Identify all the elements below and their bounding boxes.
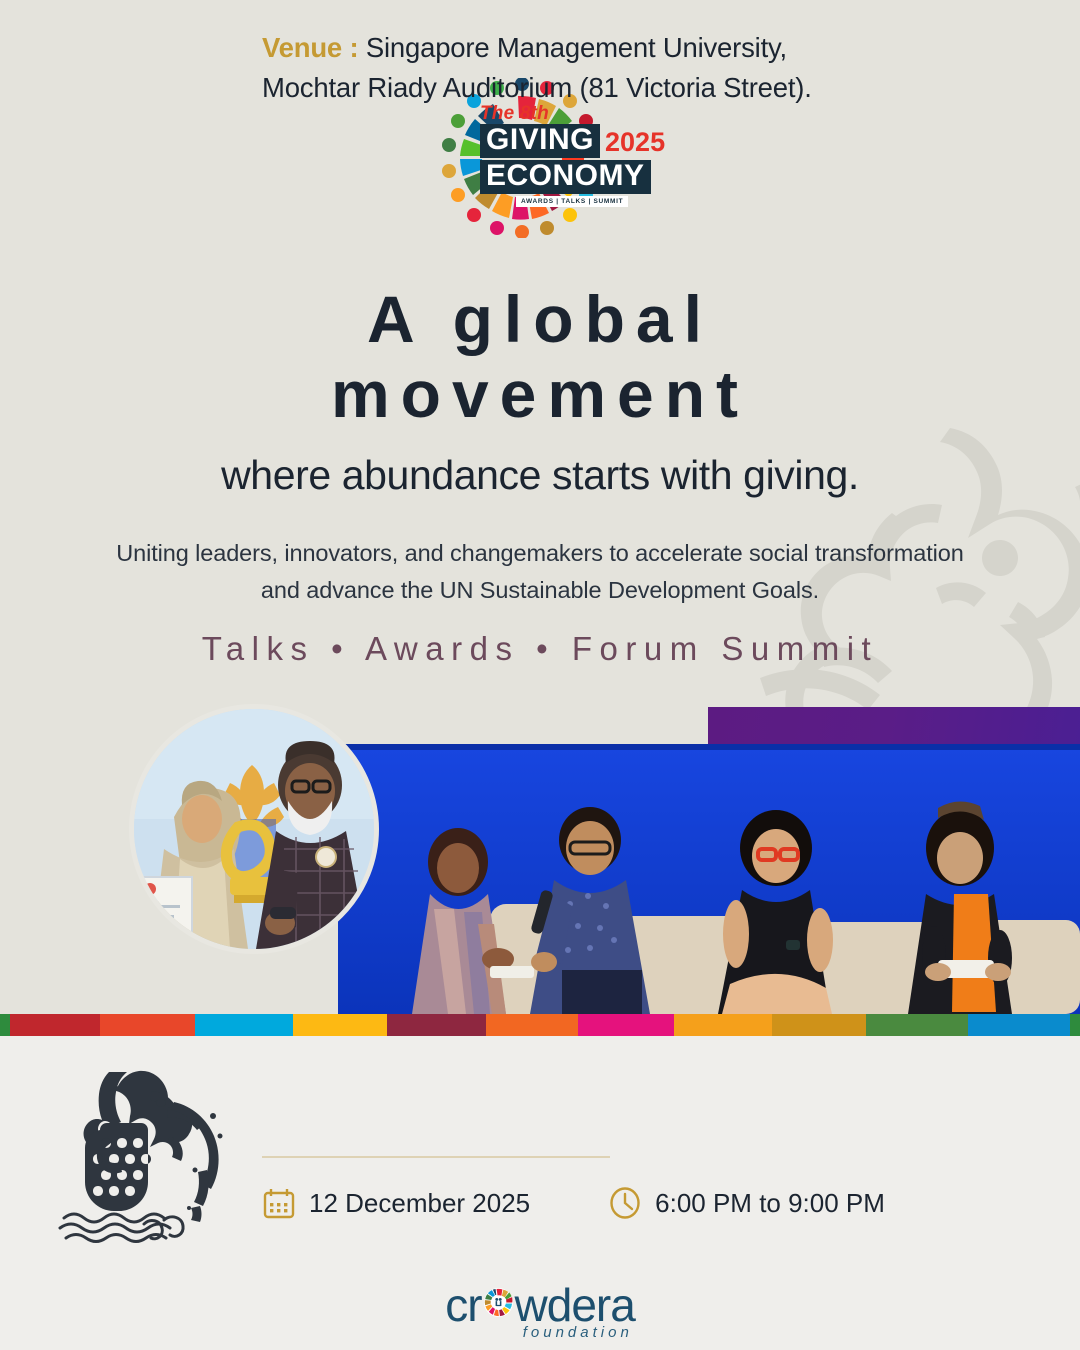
pillars-line: Talks • Awards • Forum Summit (0, 630, 1080, 668)
stripe-segment (100, 1014, 194, 1036)
stripe-segment (0, 1014, 10, 1036)
sdg-wheel-small-icon (483, 1287, 514, 1318)
stripe-segment (387, 1014, 485, 1036)
brand-name-part-2: wdera (515, 1282, 635, 1328)
stripe-segment (195, 1014, 293, 1036)
headline-line-1: A global (0, 282, 1080, 357)
panel-discussion-photo (338, 744, 1080, 1014)
logo-word-economy: ECONOMY (480, 160, 651, 194)
purple-accent-bar (708, 707, 1080, 747)
stripe-segment (866, 1014, 968, 1036)
venue-text: Venue : Singapore Management University,… (262, 28, 1010, 108)
stripe-segment (486, 1014, 579, 1036)
stripe-segment (578, 1014, 673, 1036)
page-title: A global movement (0, 282, 1080, 431)
event-time: 6:00 PM to 9:00 PM (655, 1188, 885, 1219)
event-date: 12 December 2025 (309, 1188, 530, 1219)
stripe-segment (674, 1014, 772, 1036)
venue-value-line-2: Mochtar Riady Auditorium (81 Victoria St… (262, 72, 812, 103)
color-stripe (0, 1014, 1080, 1036)
stripe-segment (10, 1014, 101, 1036)
headline-subline: where abundance starts with giving. (0, 452, 1080, 499)
stripe-segment (772, 1014, 866, 1036)
calendar-icon (262, 1186, 296, 1220)
stripe-segment (1070, 1014, 1080, 1036)
merlion-illustration-icon (52, 1058, 227, 1248)
photo-block (0, 744, 1080, 1014)
headline-line-2: movement (0, 357, 1080, 432)
venue-label: Venue : (262, 32, 358, 63)
event-meta-row: 12 December 2025 6:00 PM to 9:00 PM (262, 1186, 885, 1220)
event-date-item: 12 December 2025 (262, 1186, 530, 1220)
lede-paragraph: Uniting leaders, innovators, and changem… (110, 535, 970, 609)
stripe-segment (293, 1014, 387, 1036)
logo-year: 2025 (605, 129, 665, 158)
logo-tagline: AWARDS | TALKS | SUMMIT (516, 196, 628, 207)
crowdera-foundation-logo: cr (0, 1282, 1080, 1328)
stripe-segment (968, 1014, 1070, 1036)
brand-subtitle: foundation (523, 1324, 633, 1341)
event-time-item: 6:00 PM to 9:00 PM (608, 1186, 885, 1220)
award-ceremony-photo (129, 704, 379, 954)
clock-icon (608, 1186, 642, 1220)
brand-name-part-1: cr (445, 1282, 481, 1328)
venue-value-line-1: Singapore Management University, (366, 32, 787, 63)
logo-word-giving: GIVING (480, 124, 600, 158)
footer-divider (262, 1156, 610, 1158)
